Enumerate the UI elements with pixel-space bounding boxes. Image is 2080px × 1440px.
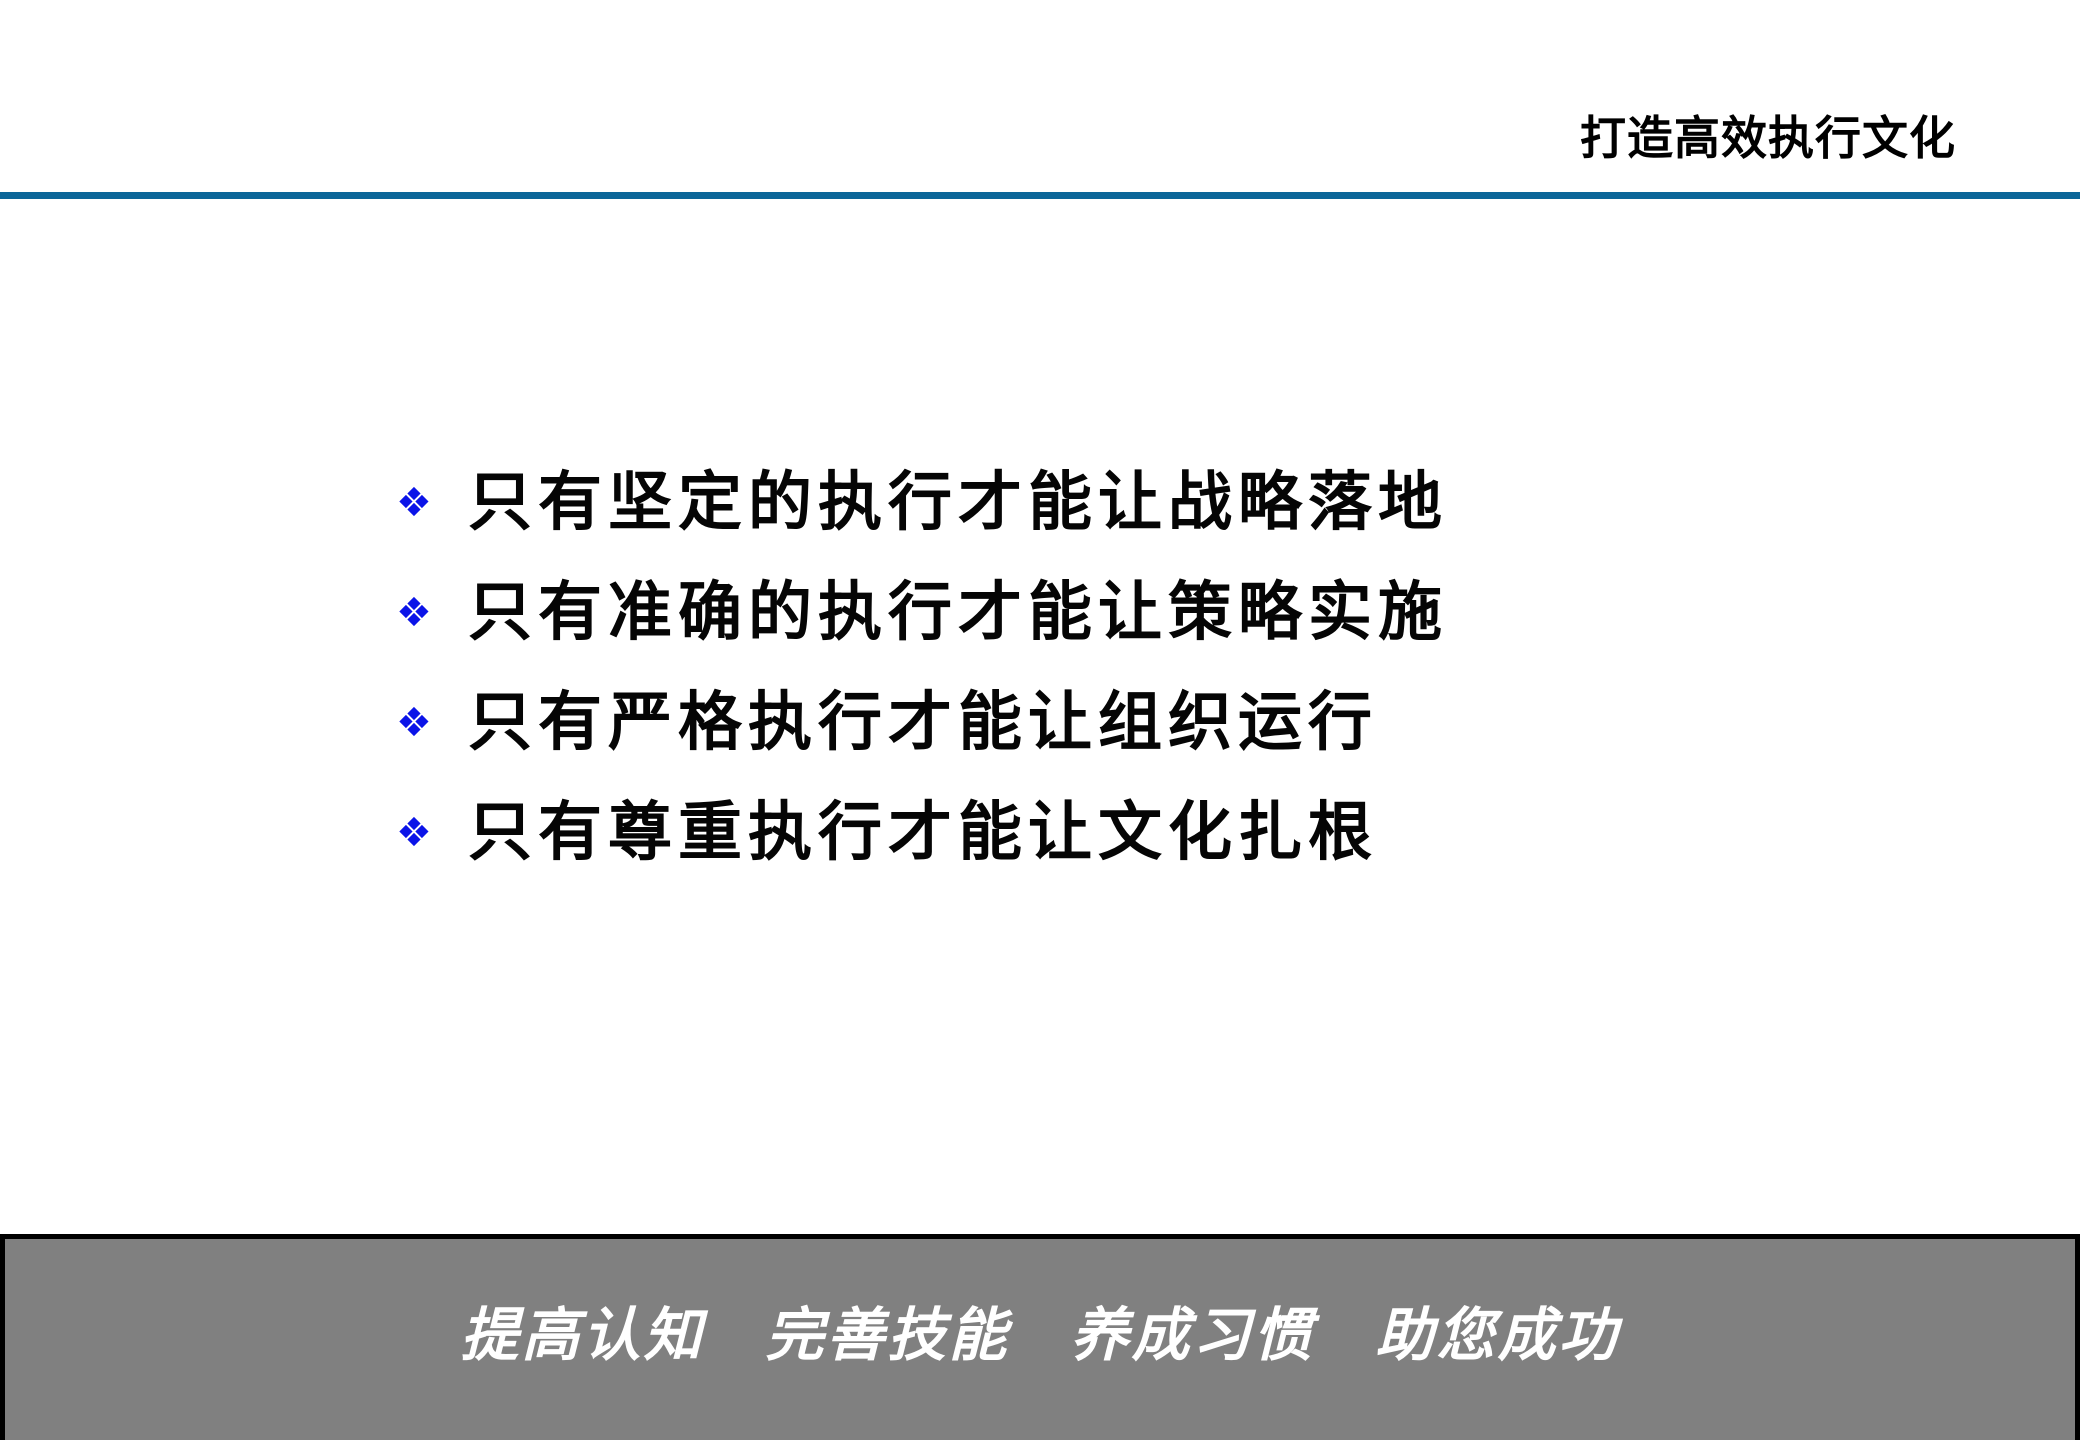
list-item-label: 只有严格执行才能让组织运行 [468,687,1896,759]
list-item: ❖ 只有准确的执行才能让策略实施 [396,558,1896,668]
list-item: ❖ 只有尊重执行才能让文化扎根 [396,778,1896,888]
bullet-list: ❖ 只有坚定的执行才能让战略落地 ❖ 只有准确的执行才能让策略实施 ❖ 只有严格… [396,448,1896,888]
header-divider [0,192,2080,199]
diamond-bullet-icon: ❖ [396,813,468,853]
footer-slogan: 提高认知 完善技能 养成习惯 助您成功 [460,1303,1619,1369]
slide-content: ❖ 只有坚定的执行才能让战略落地 ❖ 只有准确的执行才能让策略实施 ❖ 只有严格… [0,200,2080,1232]
diamond-bullet-icon: ❖ [396,483,468,523]
list-item-label: 只有坚定的执行才能让战略落地 [468,467,1896,539]
diamond-bullet-icon: ❖ [396,703,468,743]
slide: 打造高效执行文化 ❖ 只有坚定的执行才能让战略落地 ❖ 只有准确的执行才能让策略… [0,0,2080,1440]
slide-header: 打造高效执行文化 [0,0,2080,200]
slide-footer-banner: 提高认知 完善技能 养成习惯 助您成功 [0,1234,2080,1440]
list-item: ❖ 只有严格执行才能让组织运行 [396,668,1896,778]
list-item-label: 只有尊重执行才能让文化扎根 [468,797,1896,869]
page-title: 打造高效执行文化 [1580,112,1956,166]
list-item-label: 只有准确的执行才能让策略实施 [468,577,1896,649]
diamond-bullet-icon: ❖ [396,593,468,633]
list-item: ❖ 只有坚定的执行才能让战略落地 [396,448,1896,558]
